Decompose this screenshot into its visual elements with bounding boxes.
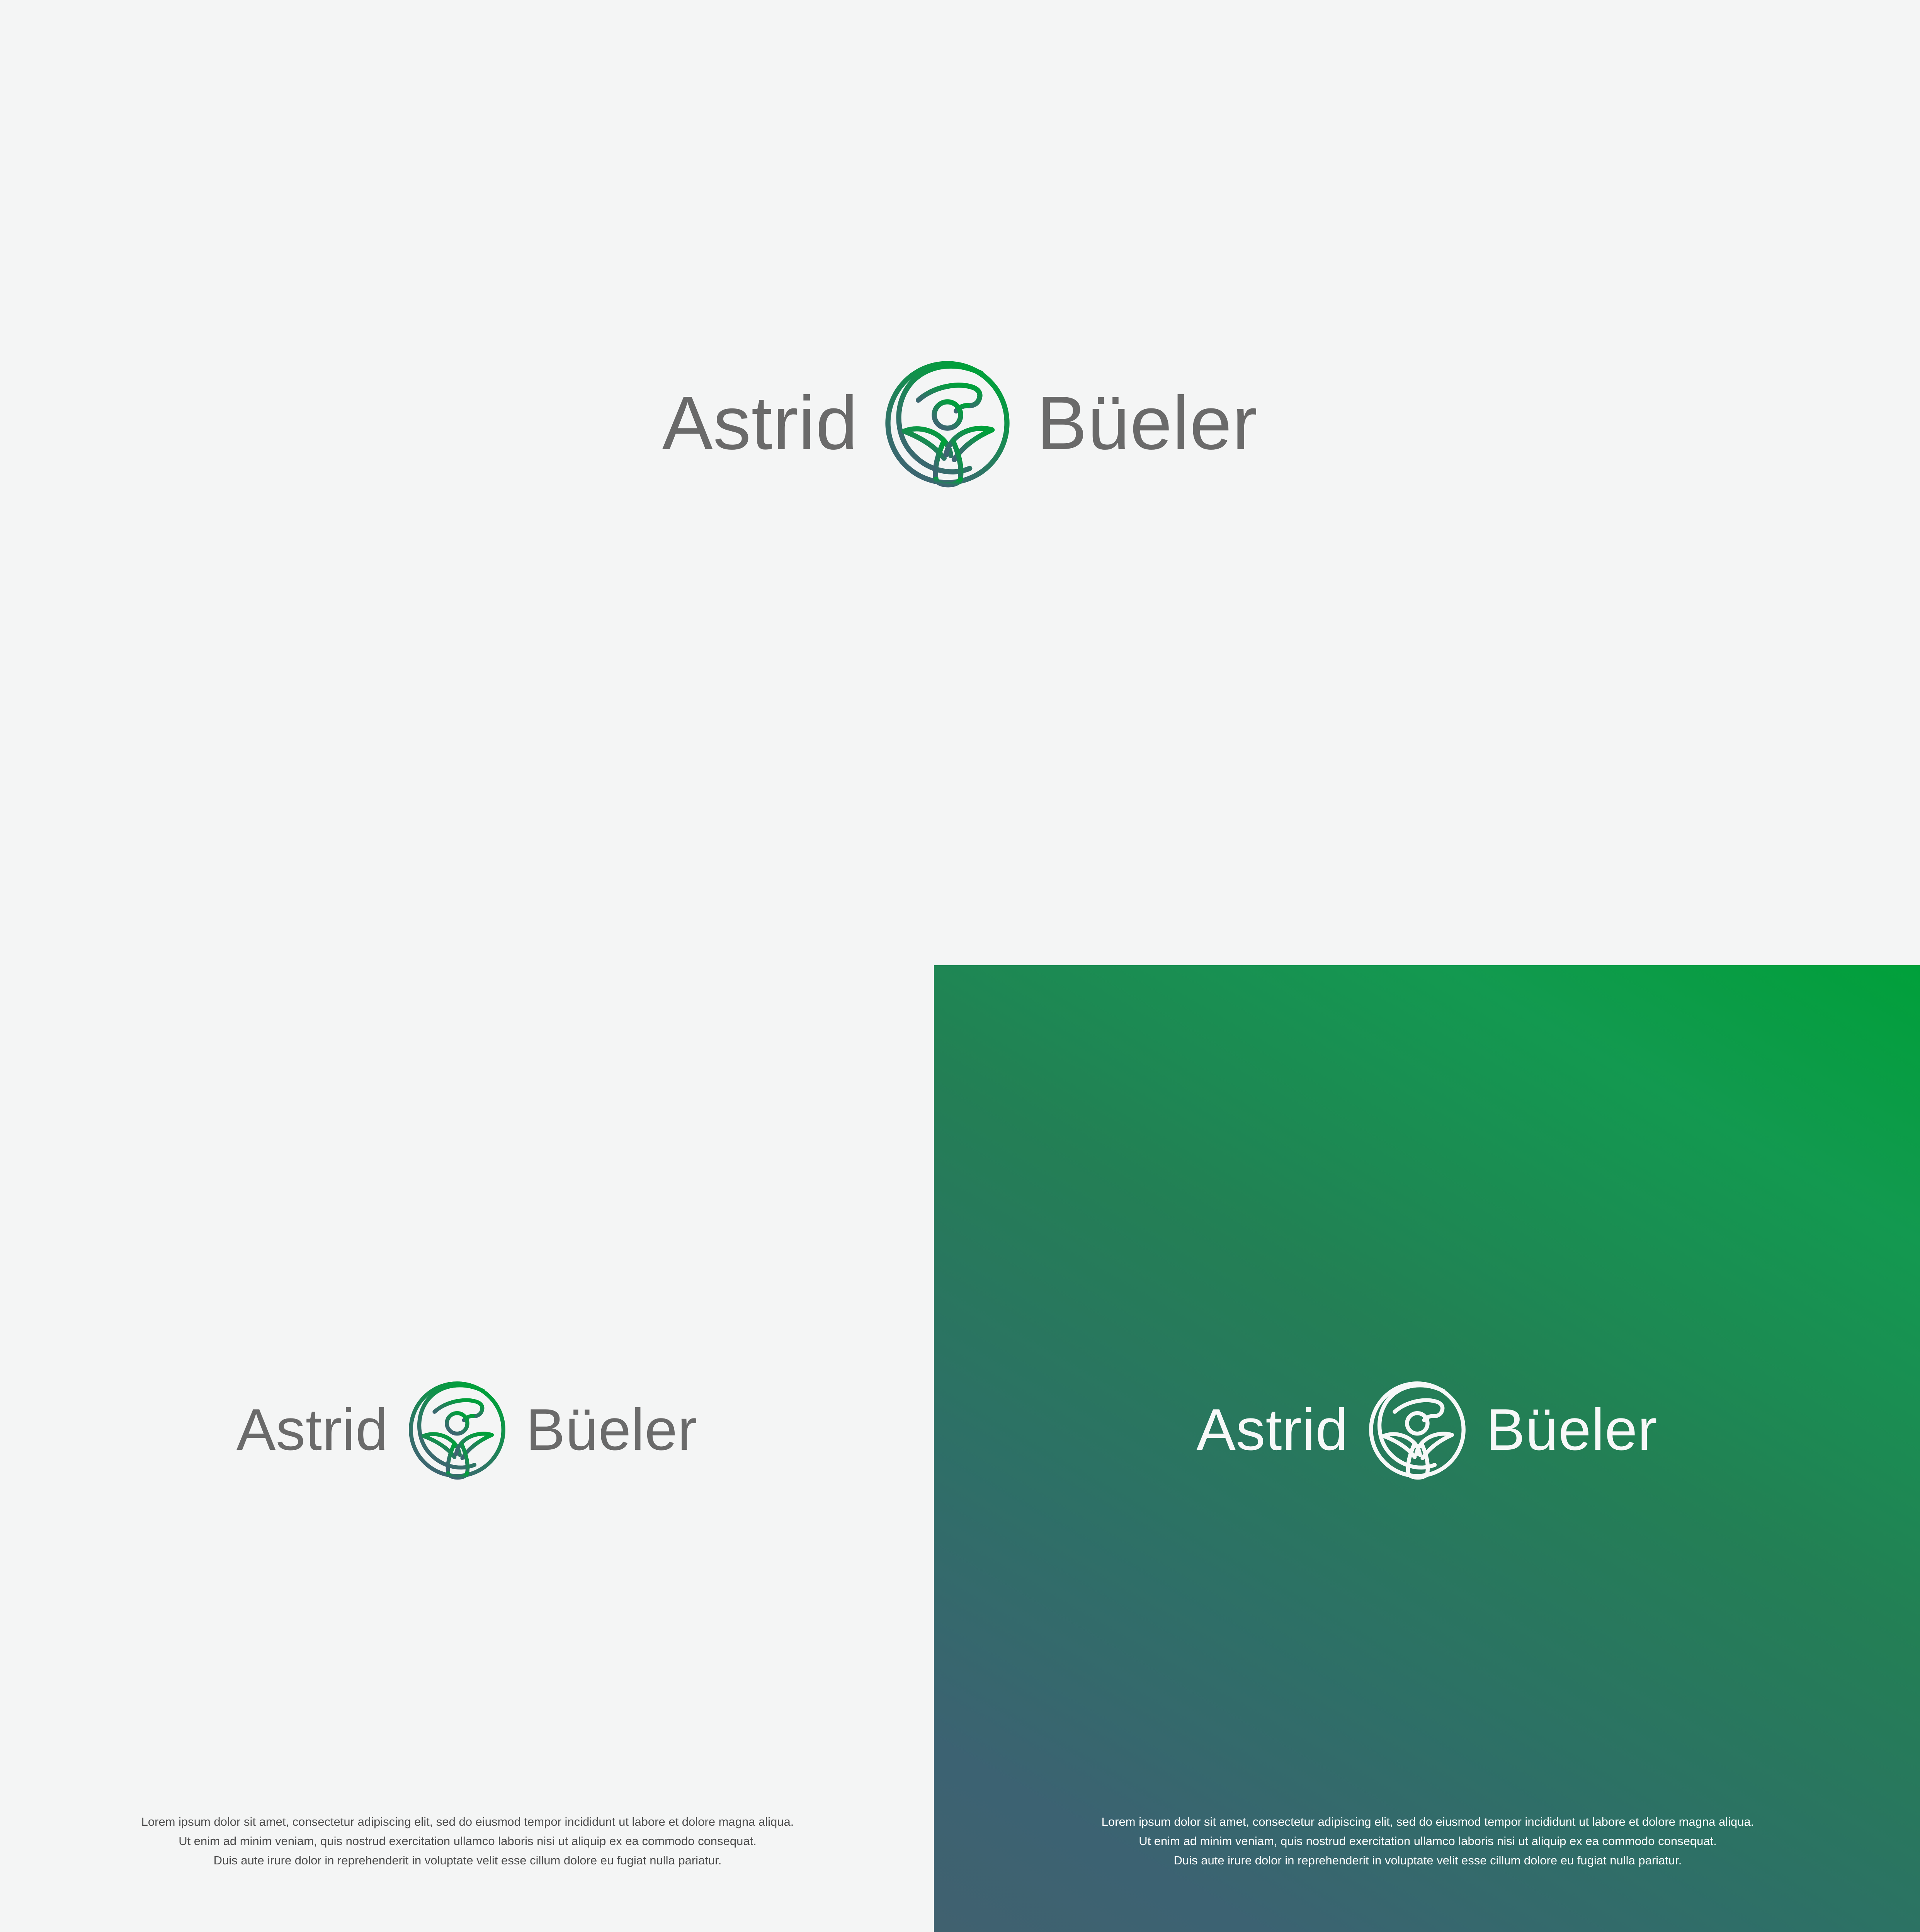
wordmark-first-name: Astrid bbox=[236, 1400, 388, 1459]
lorem-line-3: Duis aute irure dolor in reprehenderit i… bbox=[23, 1851, 912, 1870]
lorem-line-1: Lorem ipsum dolor sit amet, consectetur … bbox=[958, 1812, 1897, 1832]
circle-person-leaf-mark-icon bbox=[405, 1377, 510, 1482]
circle-person-leaf-mark-icon bbox=[880, 355, 1015, 491]
wordmark-last-name: Büeler bbox=[1037, 385, 1258, 461]
presentation-canvas: Astrid bbox=[0, 0, 1920, 1932]
logo-lockup-inverse-variant: Astrid Büeler bbox=[934, 1372, 1920, 1488]
wordmark-first-name: Astrid bbox=[1196, 1400, 1348, 1459]
wordmark-last-name: Büeler bbox=[526, 1400, 697, 1459]
lorem-line-1: Lorem ipsum dolor sit amet, consectetur … bbox=[23, 1812, 912, 1832]
circle-person-leaf-mark-icon bbox=[1365, 1377, 1470, 1482]
lorem-line-2: Ut enim ad minim veniam, quis nostrud ex… bbox=[23, 1832, 912, 1851]
lorem-line-3: Duis aute irure dolor in reprehenderit i… bbox=[958, 1851, 1897, 1870]
wordmark-first-name: Astrid bbox=[662, 385, 858, 461]
logo-lockup-light-variant: Astrid bbox=[0, 1372, 934, 1488]
lorem-block-light: Lorem ipsum dolor sit amet, consectetur … bbox=[23, 1812, 912, 1871]
logo-lockup-primary: Astrid bbox=[0, 359, 1920, 487]
lorem-block-dark: Lorem ipsum dolor sit amet, consectetur … bbox=[958, 1812, 1897, 1871]
lorem-line-2: Ut enim ad minim veniam, quis nostrud ex… bbox=[958, 1832, 1897, 1851]
wordmark-last-name: Büeler bbox=[1486, 1400, 1658, 1459]
